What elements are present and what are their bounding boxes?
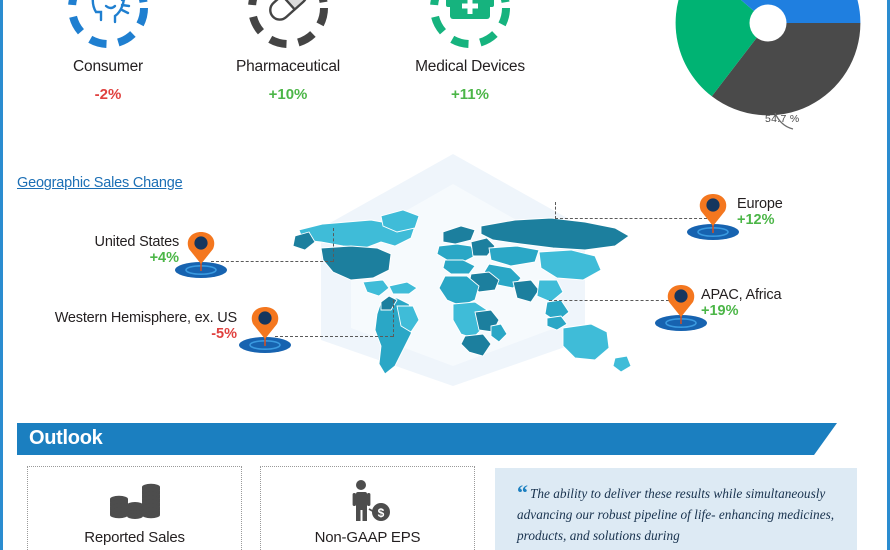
- region-label-europe: Europe +12%: [737, 196, 783, 228]
- region-label-western-hemisphere: Western Hemisphere, ex. US -5%: [13, 310, 237, 342]
- donut-callout-label: 54.7 %: [765, 113, 800, 125]
- segment-card-medical-devices: Medical Devices +11%: [375, 0, 565, 103]
- segment-performance-row: Consumer -2% Pharmaceutical +10%: [3, 0, 643, 120]
- region-change: -5%: [13, 326, 237, 342]
- region-name: Europe: [737, 196, 783, 212]
- segment-change: -2%: [13, 86, 203, 103]
- segment-name: Consumer: [13, 58, 203, 76]
- outlook-banner: Outlook: [17, 423, 837, 455]
- region-change: +19%: [701, 303, 781, 319]
- outlook-banner-shape: [17, 423, 837, 455]
- region-name: APAC, Africa: [701, 287, 781, 303]
- region-name: United States: [59, 234, 179, 250]
- map-pin-europe[interactable]: [683, 192, 743, 247]
- outlook-heading: Outlook: [29, 427, 102, 450]
- outlook-card-non-gaap-eps[interactable]: $ Non-GAAP EPS: [260, 466, 475, 550]
- connector-us-v: [333, 228, 334, 262]
- coin-stacks-icon: [28, 479, 241, 523]
- segment-change: +10%: [193, 86, 383, 103]
- medical-bag-icon: [375, 0, 565, 56]
- map-pin-western-hemisphere[interactable]: [235, 305, 295, 360]
- connector-europe-v: [555, 202, 556, 219]
- region-change: +12%: [737, 212, 783, 228]
- infographic-page: Consumer -2% Pharmaceutical +10%: [0, 0, 890, 550]
- pill-capsule-icon: [193, 0, 383, 56]
- consumer-face-icon: [13, 0, 203, 56]
- quote-paragraph: “The ability to deliver these results wh…: [517, 482, 835, 546]
- region-label-apac-africa: APAC, Africa +19%: [701, 287, 781, 319]
- person-dollar-icon: $: [261, 479, 474, 523]
- quote-mark-icon: “: [517, 480, 527, 505]
- outlook-card-reported-sales[interactable]: Reported Sales: [27, 466, 242, 550]
- map-pin-united-states[interactable]: [171, 230, 231, 285]
- segment-name: Pharmaceutical: [193, 58, 383, 76]
- segment-card-consumer: Consumer -2%: [13, 0, 203, 103]
- region-name: Western Hemisphere, ex. US: [13, 310, 237, 326]
- region-label-united-states: United States +4%: [59, 234, 179, 266]
- connector-western-v: [393, 300, 394, 337]
- segment-card-pharmaceutical: Pharmaceutical +10%: [193, 0, 383, 103]
- segment-change: +11%: [375, 86, 565, 103]
- world-map-svg: [285, 198, 635, 383]
- world-map-region: United States +4% Western Hemisphere, ex…: [3, 150, 887, 390]
- outlook-card-label: Reported Sales: [28, 529, 241, 546]
- region-change: +4%: [59, 250, 179, 266]
- quote-line-1: The ability to deliver these results whi…: [530, 486, 742, 501]
- executive-quote-block: “The ability to deliver these results wh…: [495, 468, 857, 550]
- segment-name: Medical Devices: [375, 58, 565, 76]
- svg-text:$: $: [377, 506, 384, 520]
- outlook-card-label: Non-GAAP EPS: [261, 529, 474, 546]
